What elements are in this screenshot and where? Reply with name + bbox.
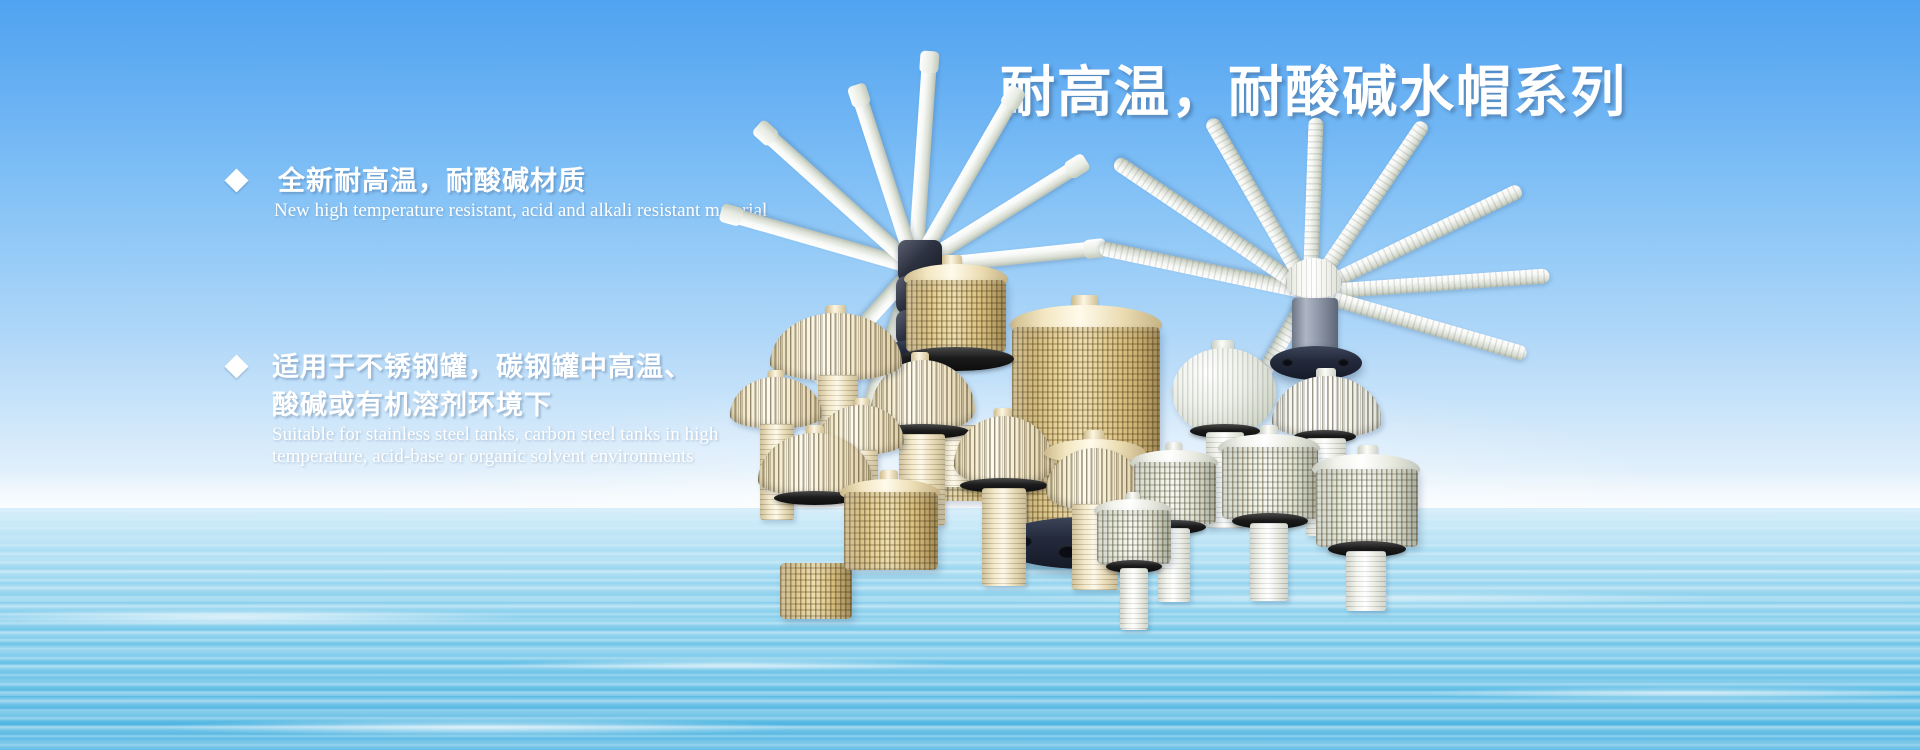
nozzle-ribbed-body (1316, 469, 1418, 547)
nozzle-vent-slots (730, 377, 822, 429)
nozzle-vent-slots (844, 492, 938, 570)
nozzle-threaded-stem (1346, 551, 1386, 611)
nozzle-ribbed-body (844, 492, 938, 570)
diamond-marker-icon (224, 168, 248, 192)
nozzle-ribbed-upper (906, 280, 1006, 352)
diamond-marker-icon (224, 354, 248, 378)
nozzle-layered-dome (730, 377, 822, 429)
promo-banner: 耐高温，耐酸碱水帽系列 全新耐高温，耐酸碱材质 New high tempera… (0, 0, 1920, 750)
flange-hole (1338, 358, 1349, 366)
nozzle-vent-slots (906, 280, 1006, 352)
cream-short-stack-nozzle (836, 470, 946, 660)
white-stack-nozzle-c (1310, 445, 1426, 675)
flange-hole (1282, 358, 1293, 366)
arm-tip (718, 203, 744, 227)
nozzle-threaded-stem (1120, 568, 1148, 630)
nozzle-ribbed-body (1222, 447, 1318, 519)
nozzle-threaded-stem (1250, 523, 1288, 601)
nozzle-vent-slots (1097, 510, 1171, 564)
arm-tip (919, 50, 939, 73)
nozzle-ribbed-body (1097, 510, 1171, 564)
nozzle-threaded-stem (982, 488, 1026, 586)
white-small-stack-nozzle-d (1092, 492, 1178, 682)
water-cap-nozzle-products (700, 140, 1920, 670)
nozzle-vent-slots (1222, 447, 1318, 519)
nozzle-vent-slots (1316, 469, 1418, 547)
nozzle-spherical-cap (1172, 348, 1276, 436)
page-title: 耐高温，耐酸碱水帽系列 (1000, 62, 1627, 123)
